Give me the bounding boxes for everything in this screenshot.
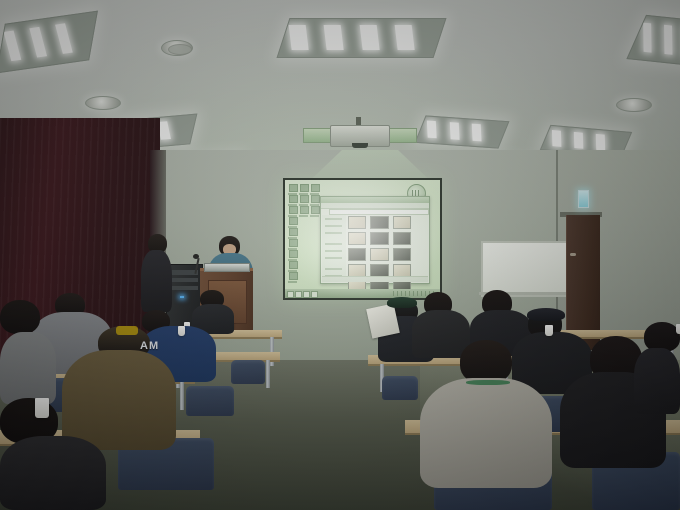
fluorescent-tube bbox=[472, 124, 482, 142]
recessed-downlight bbox=[616, 98, 652, 112]
projected-desktop bbox=[285, 180, 440, 298]
microphone-icon bbox=[193, 254, 199, 259]
torso bbox=[62, 350, 176, 450]
printed-handout bbox=[366, 303, 400, 338]
rack-unit bbox=[170, 286, 198, 290]
paper-cup[interactable] bbox=[35, 398, 49, 418]
laptop[interactable] bbox=[204, 263, 250, 272]
fluorescent-tube bbox=[324, 25, 344, 50]
sweater-collar-trim bbox=[466, 380, 510, 385]
torso bbox=[0, 436, 106, 510]
table-leg bbox=[266, 360, 270, 388]
classroom-chair[interactable] bbox=[186, 386, 234, 416]
fluorescent-tube bbox=[574, 132, 583, 149]
fluorescent-tube bbox=[643, 23, 652, 53]
torso bbox=[141, 250, 172, 312]
exit-sign-icon bbox=[578, 190, 589, 208]
fluorescent-tube bbox=[29, 27, 47, 58]
torso bbox=[412, 310, 470, 358]
paper-cup[interactable] bbox=[676, 324, 680, 334]
fluorescent-tube bbox=[359, 25, 379, 50]
door-handle[interactable] bbox=[570, 253, 576, 256]
projector-lens-icon bbox=[352, 143, 368, 148]
recessed-downlight bbox=[85, 96, 121, 110]
fluorescent-tube bbox=[4, 31, 22, 62]
torso bbox=[420, 378, 552, 488]
fluorescent-tube bbox=[394, 25, 414, 50]
head bbox=[0, 300, 40, 334]
fluorescent-tube bbox=[552, 130, 561, 147]
fluorescent-tube bbox=[55, 24, 73, 55]
lecture-hall-photo: AM bbox=[0, 0, 680, 510]
paper-cup[interactable] bbox=[178, 326, 185, 336]
fluorescent-tube bbox=[427, 121, 437, 139]
whiteboard bbox=[481, 241, 577, 297]
fluorescent-tube bbox=[664, 25, 673, 55]
fluorescent-tube bbox=[449, 122, 459, 140]
status-led-icon bbox=[180, 296, 184, 298]
torso bbox=[0, 332, 56, 404]
hood-drawstring-accent bbox=[116, 326, 138, 335]
classroom-chair[interactable] bbox=[231, 360, 265, 384]
paper-cup[interactable] bbox=[545, 325, 553, 336]
table-leg bbox=[180, 382, 184, 410]
classroom-chair[interactable] bbox=[382, 376, 418, 400]
baseball-cap-green bbox=[387, 297, 417, 308]
rack-unit bbox=[170, 278, 198, 282]
smoke-detector bbox=[168, 44, 192, 55]
projection-screen bbox=[283, 178, 442, 300]
jacket-logo-text: AM bbox=[140, 340, 200, 364]
baseball-cap-black bbox=[527, 308, 565, 321]
fluorescent-tube bbox=[596, 134, 605, 151]
ceiling-light-fixture bbox=[415, 115, 510, 148]
fluorescent-tube bbox=[289, 25, 309, 50]
ceiling-light-fixture bbox=[277, 18, 447, 58]
projection-glare bbox=[285, 180, 440, 298]
torso bbox=[634, 348, 680, 414]
